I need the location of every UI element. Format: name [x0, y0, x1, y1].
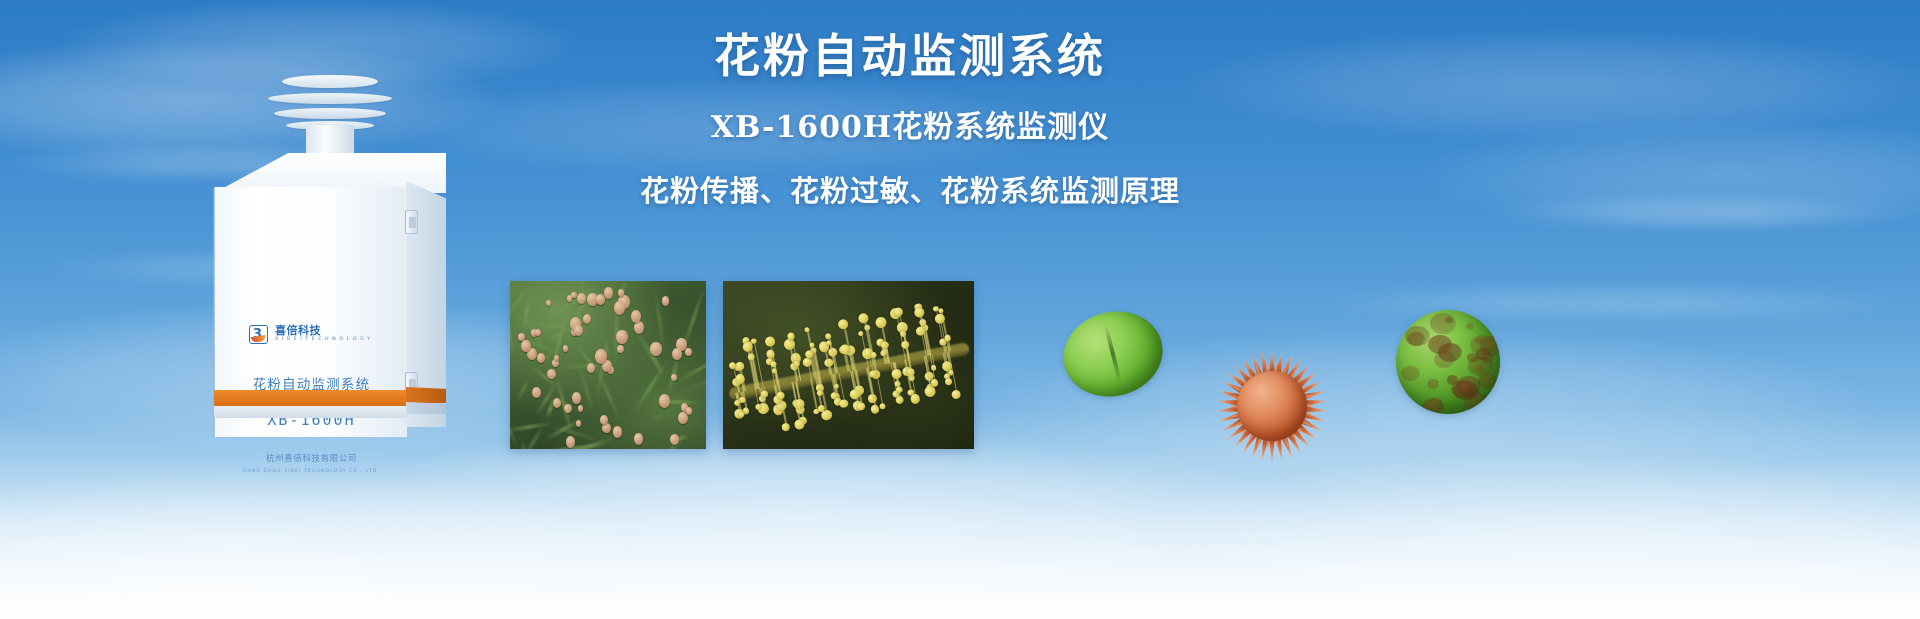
- cedar-pollen-cone: [662, 296, 670, 306]
- catkin-anther: [895, 386, 903, 394]
- device-accent-stripe-side: [406, 387, 446, 403]
- cedar-pollen-cone: [572, 392, 581, 404]
- cedar-pollen-cone: [576, 420, 582, 427]
- catkin-anther: [817, 404, 825, 412]
- catkin-anther: [804, 326, 811, 333]
- cedar-pollen-cone: [563, 345, 568, 352]
- catkin-anther: [857, 402, 866, 411]
- catkin-anther: [825, 333, 832, 340]
- cedar-pollen-cone: [617, 345, 623, 353]
- rough-grain-body: [1396, 310, 1500, 414]
- cedar-pollen-cone: [671, 374, 677, 381]
- catkin-anther: [781, 423, 790, 432]
- grain-surface-blotch: [1467, 353, 1478, 362]
- cedar-pollen-cone: [672, 348, 682, 360]
- catkin-anther: [879, 403, 886, 410]
- banner-subtitle: XB-1600H花粉系统监测仪: [590, 110, 1230, 146]
- pollen-monitor-device: 3 喜倍科技 X I B E I T E C H N O L O G Y 花粉自…: [200, 75, 460, 435]
- catkin-anther: [761, 390, 768, 397]
- catkin-anther: [764, 336, 775, 347]
- air-inlet-cap: [282, 75, 378, 88]
- air-inlet-neck: [306, 125, 354, 155]
- rough-pollen-grain: [1396, 310, 1500, 414]
- cedar-pollen-cones-photo: [510, 281, 706, 449]
- cedar-pollen-cone: [547, 369, 556, 380]
- catkin-anther: [944, 334, 952, 342]
- brand-text-block: 喜倍科技 X I B E I T E C H N O L O G Y: [275, 325, 371, 344]
- catkin-anther: [945, 378, 953, 386]
- cedar-pollen-cone: [670, 434, 679, 445]
- grain-surface-blotch: [1434, 351, 1456, 368]
- pollen-spike: [1269, 439, 1275, 462]
- brand-logo: 3 喜倍科技 X I B E I T E C H N O L O G Y: [249, 325, 371, 344]
- pollen-spike: [1269, 350, 1275, 373]
- air-inlet-ring: [268, 93, 392, 104]
- catkin-anther: [893, 306, 904, 317]
- cedar-pollen-cone: [616, 330, 627, 344]
- grain-surface-blotch: [1407, 332, 1425, 346]
- device-company-cn: 杭州喜倍科技有限公司: [215, 452, 408, 464]
- banner-topic-line: 花粉传播、花粉过敏、花粉系统监测原理: [590, 174, 1230, 209]
- spiky-grain-core: [1237, 371, 1307, 441]
- catkin-anther: [930, 379, 939, 388]
- cedar-pollen-cone: [583, 314, 591, 324]
- cloud-streak: [1300, 290, 1920, 316]
- catkin-anther: [794, 419, 805, 430]
- cedar-pollen-cone: [634, 321, 644, 334]
- cedar-pollen-cone: [659, 394, 671, 409]
- cedar-pollen-cone: [596, 294, 605, 306]
- cedar-pollen-cone: [564, 404, 572, 413]
- cedar-pollen-cone: [685, 348, 692, 356]
- cloud-streak: [1480, 200, 1920, 226]
- grain-surface-blotch: [1430, 313, 1456, 334]
- xibei-logo-icon: 3: [249, 325, 268, 344]
- door-latch-upper: [405, 210, 418, 234]
- brand-name-en: X I B E I T E C H N O L O G Y: [275, 337, 371, 343]
- catkin-anther: [951, 389, 962, 400]
- cedar-pollen-cone: [567, 295, 572, 302]
- catkin-anther: [738, 411, 745, 418]
- catkin-anther: [891, 368, 903, 380]
- grain-surface-blotch: [1423, 398, 1444, 414]
- cedar-pollen-cone: [521, 340, 531, 352]
- catkin-anther: [838, 318, 850, 330]
- smooth-pollen-grain: [1063, 312, 1163, 396]
- air-inlet-ring: [274, 108, 386, 119]
- cedar-pollen-cone: [571, 292, 576, 299]
- cloud-shape: [1180, 30, 1920, 140]
- catkin-anther: [924, 385, 937, 398]
- cedar-pollen-cone: [631, 310, 641, 323]
- pollen-monitor-banner: 花粉自动监测系统 XB-1600H花粉系统监测仪 花粉传播、花粉过敏、花粉系统监…: [0, 0, 1920, 619]
- device-company-en: HANG ZHOU XIBEI TECHNOLOGY CO., LTD.: [215, 469, 408, 474]
- catkin-anther: [858, 330, 864, 336]
- cedar-pollen-cone: [537, 353, 545, 363]
- grain-surface-blotch: [1480, 336, 1500, 355]
- birch-catkin-photo: [723, 281, 974, 449]
- cedar-pollen-cone: [604, 287, 613, 298]
- banner-title: 花粉自动监测系统: [590, 28, 1230, 86]
- spiky-pollen-grain: [1216, 350, 1328, 462]
- device-accent-stripe: [214, 390, 407, 406]
- banner-heading-group: 花粉自动监测系统 XB-1600H花粉系统监测仪 花粉传播、花粉过敏、花粉系统监…: [590, 28, 1230, 208]
- grain-surface-blotch: [1466, 323, 1474, 329]
- cedar-pollen-cone: [595, 349, 607, 364]
- device-base: [214, 406, 407, 418]
- grain-surface-blotch: [1427, 379, 1440, 389]
- catkin-anther: [914, 306, 926, 318]
- cedar-pollen-cone: [566, 436, 576, 448]
- cedar-pollen-cone: [600, 415, 608, 425]
- catkin-anther: [910, 393, 921, 404]
- device-base-side: [406, 402, 446, 414]
- brand-name-cn: 喜倍科技: [275, 325, 371, 337]
- cedar-pollen-cone: [686, 407, 692, 414]
- catkin-anther: [839, 399, 849, 409]
- catkin-anther: [874, 316, 887, 329]
- cedar-pollen-cone: [650, 342, 661, 356]
- grain-surface-blotch: [1401, 366, 1420, 381]
- catkin-anther: [786, 332, 795, 341]
- catkin-anther: [858, 312, 869, 323]
- cedar-pollen-cone: [577, 293, 586, 304]
